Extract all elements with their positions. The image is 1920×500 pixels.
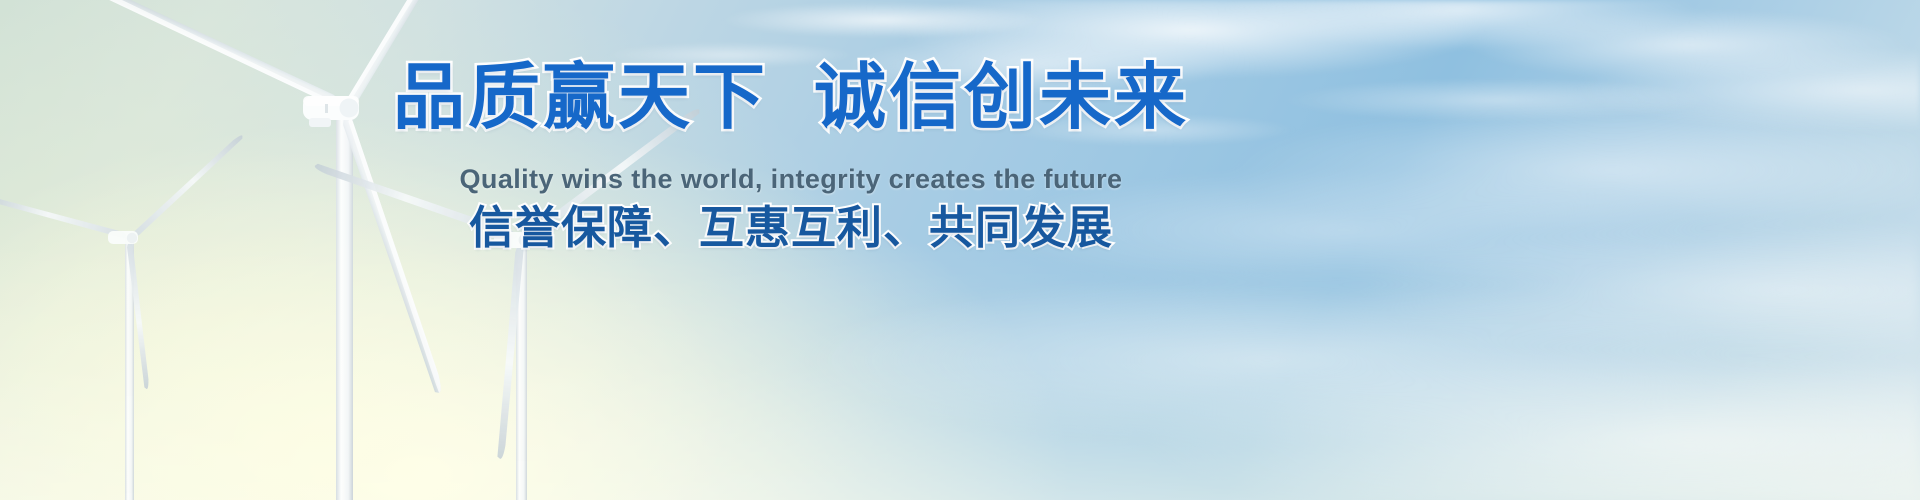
wind-turbines-svg xyxy=(0,0,1920,500)
banner-tagline: 信誉保障、互惠互利、共同发展 xyxy=(0,205,1582,250)
cloud-layer-top xyxy=(0,0,1920,500)
turbine-center xyxy=(73,0,510,500)
sun-glow xyxy=(0,0,1920,500)
banner-subheadline-english: Quality wins the world, integrity create… xyxy=(0,166,1582,193)
banner-headline: 品质赢天下 诚信创未来 xyxy=(0,62,1582,134)
cloud-layer-mid xyxy=(0,0,1920,500)
hero-banner: 品质赢天下 诚信创未来 Quality wins the world, inte… xyxy=(0,0,1920,500)
wind-turbine-group xyxy=(0,0,1920,500)
turbine-left xyxy=(0,134,246,500)
horizon-haze xyxy=(0,0,1920,500)
turbine-right xyxy=(314,107,704,500)
cloud-layer-wisps xyxy=(0,0,1920,500)
banner-copy: 品质赢天下 诚信创未来 Quality wins the world, inte… xyxy=(0,0,1920,500)
